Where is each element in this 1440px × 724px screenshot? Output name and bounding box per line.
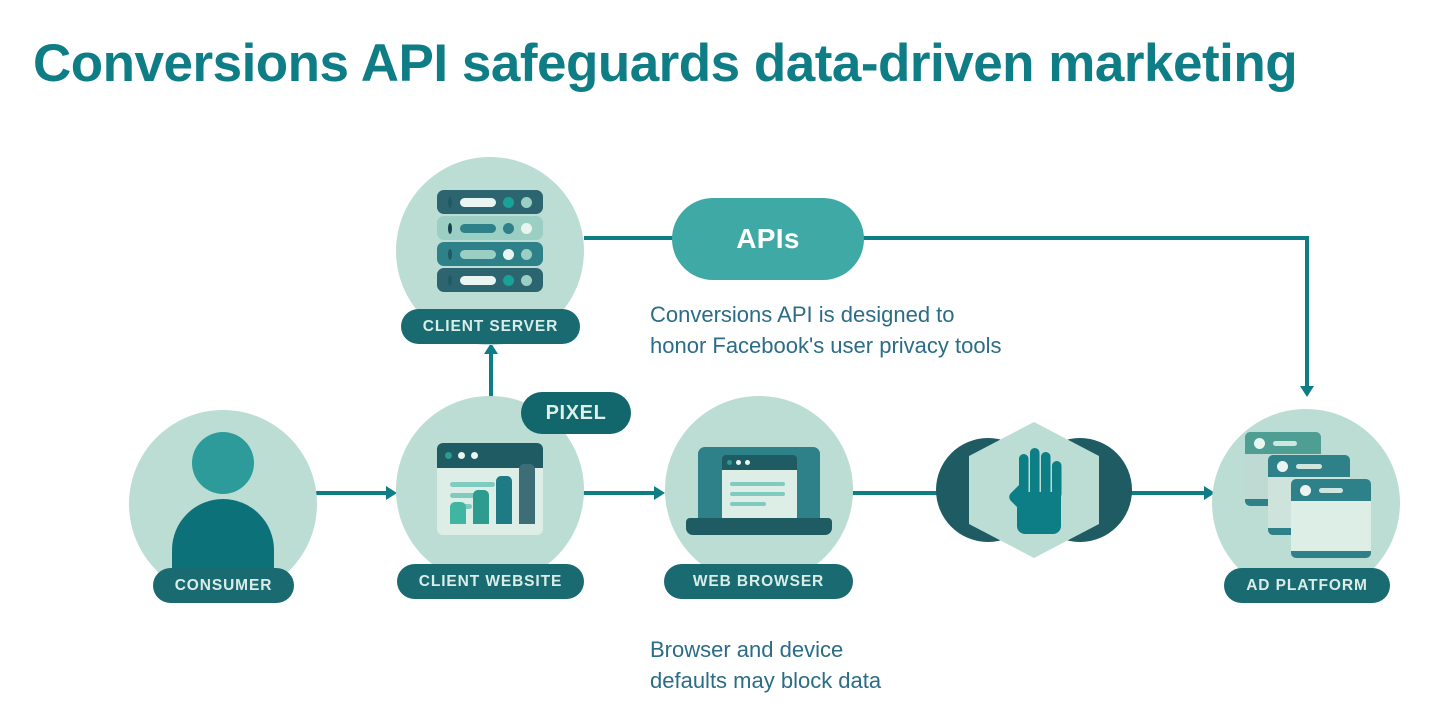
laptop-browser-titlebar [722, 455, 797, 470]
apis-badge[interactable]: APIs [672, 198, 864, 280]
apis-badge-text: APIs [736, 223, 799, 255]
note-browser-defaults: Browser and device defaults may block da… [650, 634, 881, 696]
label-consumer-text: CONSUMER [175, 577, 273, 595]
stop-hand-icon [997, 448, 1072, 540]
label-ad-platform-text: AD PLATFORM [1246, 577, 1368, 595]
connector-client-server-to-apis [584, 236, 676, 240]
ad-card-front [1291, 479, 1371, 557]
label-client-website: CLIENT WEBSITE [397, 564, 584, 599]
label-client-server: CLIENT SERVER [401, 309, 580, 344]
pixel-badge-text: PIXEL [546, 402, 607, 425]
arrow-into-ad-platform [1300, 386, 1314, 397]
page-title: Conversions API safeguards data-driven m… [33, 33, 1297, 95]
label-client-website-text: CLIENT WEBSITE [419, 573, 563, 591]
connector-apis-down [1305, 236, 1309, 388]
label-web-browser: WEB BROWSER [664, 564, 853, 599]
connector-website-to-browser [583, 491, 655, 495]
label-ad-platform: AD PLATFORM [1224, 568, 1390, 603]
label-web-browser-text: WEB BROWSER [693, 573, 824, 591]
arrow-into-web-browser [654, 486, 665, 500]
diagram-canvas: Conversions API safeguards data-driven m… [0, 0, 1440, 724]
connector-apis-right [860, 236, 1309, 240]
pixel-badge[interactable]: PIXEL [521, 392, 631, 434]
label-client-server-text: CLIENT SERVER [423, 318, 558, 336]
connector-consumer-to-website [315, 491, 387, 495]
label-consumer: CONSUMER [153, 568, 294, 603]
note-conversions-api: Conversions API is designed to honor Fac… [650, 299, 1001, 361]
